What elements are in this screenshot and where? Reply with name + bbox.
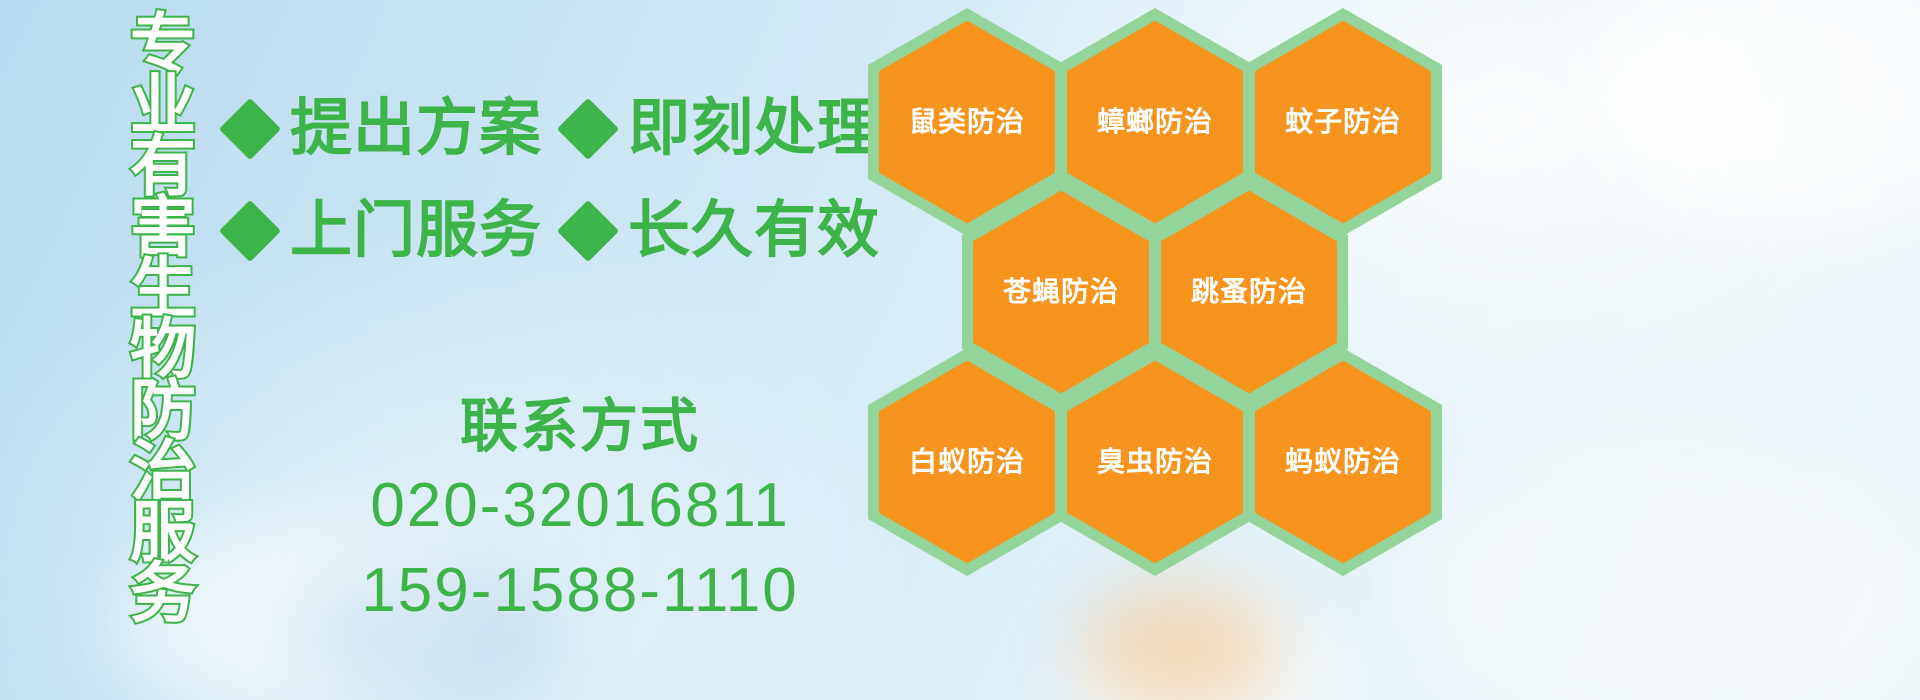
contact-phone-mobile[interactable]: 159-1588-1110 [300,551,860,630]
hex-inner: 蚊子防治 [1255,21,1431,224]
diamond-bullet-icon [557,200,619,262]
service-hex-label: 鼠类防治 [909,108,1025,136]
hex-inner: 鼠类防治 [879,21,1055,224]
hex-inner: 蚂蚁防治 [1255,361,1431,564]
vertical-title-char: 物 [130,319,196,380]
selling-point: 长久有效 [566,200,880,262]
selling-point-label: 即刻处理 [628,98,880,160]
vertical-title-char: 治 [130,441,196,502]
selling-point-label: 上门服务 [290,200,542,262]
promo-banner: 专 业 有 害 生 物 防 治 服 务 提出方案 即刻处理 上门服务 [0,0,1920,700]
service-hex-label: 白蚁防治 [909,448,1025,476]
service-honeycomb: 鼠类防治 蟑螂防治 蚊子防治 苍蝇防治 跳蚤防治 白蚁防治 [852,0,1472,560]
vertical-title-char: 服 [130,502,196,563]
diamond-bullet-icon [219,200,281,262]
vertical-title-char: 害 [130,197,196,258]
hex-inner: 蟑螂防治 [1067,21,1243,224]
selling-points: 提出方案 即刻处理 上门服务 长久有效 [228,78,868,282]
vertical-title-char: 业 [130,75,196,136]
service-hex-label: 蚊子防治 [1285,108,1401,136]
service-hex-label: 跳蚤防治 [1191,278,1307,306]
selling-point: 提出方案 [228,98,542,160]
service-hex-label: 蟑螂防治 [1097,108,1213,136]
vertical-title-char: 防 [130,380,196,441]
hex-inner: 跳蚤防治 [1161,191,1337,394]
selling-point-label: 长久有效 [628,200,880,262]
hex-inner: 白蚁防治 [879,361,1055,564]
service-hex-label: 苍蝇防治 [1003,278,1119,306]
hex-inner: 苍蝇防治 [973,191,1149,394]
vertical-title-char: 生 [130,258,196,319]
vertical-title-char: 专 [130,14,196,75]
contact-phone-landline[interactable]: 020-32016811 [300,466,860,545]
background-blob [1060,600,1360,700]
selling-point: 即刻处理 [566,98,880,160]
background-blob [1080,585,1280,700]
selling-point: 上门服务 [228,200,542,262]
contact-title: 联系方式 [300,395,860,460]
service-hex-label: 蚂蚁防治 [1285,448,1401,476]
diamond-bullet-icon [219,98,281,160]
selling-point-label: 提出方案 [290,98,542,160]
vertical-title-char: 有 [130,136,196,197]
vertical-title: 专 业 有 害 生 物 防 治 服 务 [108,14,218,574]
selling-points-row: 提出方案 即刻处理 [228,78,868,180]
background-blob [1580,0,1920,240]
background-blob [1400,430,1920,700]
hex-inner: 臭虫防治 [1067,361,1243,564]
vertical-title-char: 务 [130,563,196,624]
contact-block: 联系方式 020-32016811 159-1588-1110 [300,395,860,631]
selling-points-row: 上门服务 长久有效 [228,180,868,282]
diamond-bullet-icon [557,98,619,160]
service-hex-label: 臭虫防治 [1097,448,1213,476]
